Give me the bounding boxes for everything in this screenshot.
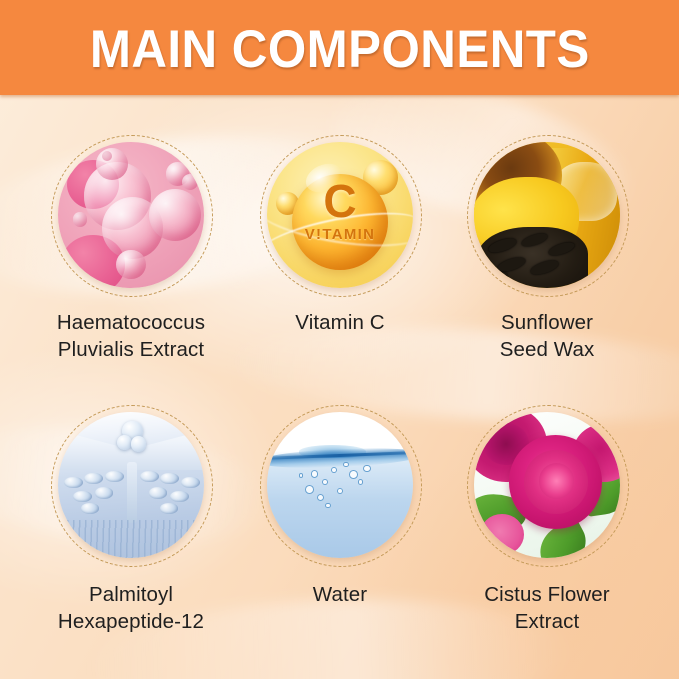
component-image-wrap <box>51 405 211 565</box>
component-card-cistus-flower-extract[interactable]: Cistus Flower Extract <box>434 405 660 636</box>
component-image-palmitoyl <box>58 412 204 558</box>
component-label: Vitamin C <box>227 309 453 336</box>
component-image-water <box>267 412 413 558</box>
component-label: Haematococcus Pluvialis Extract <box>18 309 244 364</box>
component-label: Water <box>227 581 453 608</box>
component-image-wrap <box>467 405 627 565</box>
infographic-poster: MAIN COMPONENTS <box>0 0 679 679</box>
component-image-sunflower <box>474 142 620 288</box>
header-banner: MAIN COMPONENTS <box>0 0 679 95</box>
component-card-haematococcus-pluvialis-extract[interactable]: Haematococcus Pluvialis Extract <box>18 135 244 364</box>
component-image-wrap <box>51 135 211 295</box>
component-label: Palmitoyl Hexapeptide-12 <box>18 581 244 636</box>
component-label: Sunflower Seed Wax <box>434 309 660 364</box>
component-image-cistus-flower <box>474 412 620 558</box>
component-image-vitamin-c: C V!TAMIN <box>267 142 413 288</box>
component-image-haematococcus <box>58 142 204 288</box>
page-title: MAIN COMPONENTS <box>90 23 590 76</box>
component-card-water[interactable]: Water <box>227 405 453 608</box>
component-image-wrap: C V!TAMIN <box>260 135 420 295</box>
component-label: Cistus Flower Extract <box>434 581 660 636</box>
component-card-sunflower-seed-wax[interactable]: Sunflower Seed Wax <box>434 135 660 364</box>
component-image-wrap <box>260 405 420 565</box>
component-card-vitamin-c[interactable]: C V!TAMIN Vitamin C <box>227 135 453 336</box>
component-card-palmitoyl-hexapeptide-12[interactable]: Palmitoyl Hexapeptide-12 <box>18 405 244 636</box>
component-image-wrap <box>467 135 627 295</box>
components-grid: Haematococcus Pluvialis Extract C <box>0 95 679 679</box>
